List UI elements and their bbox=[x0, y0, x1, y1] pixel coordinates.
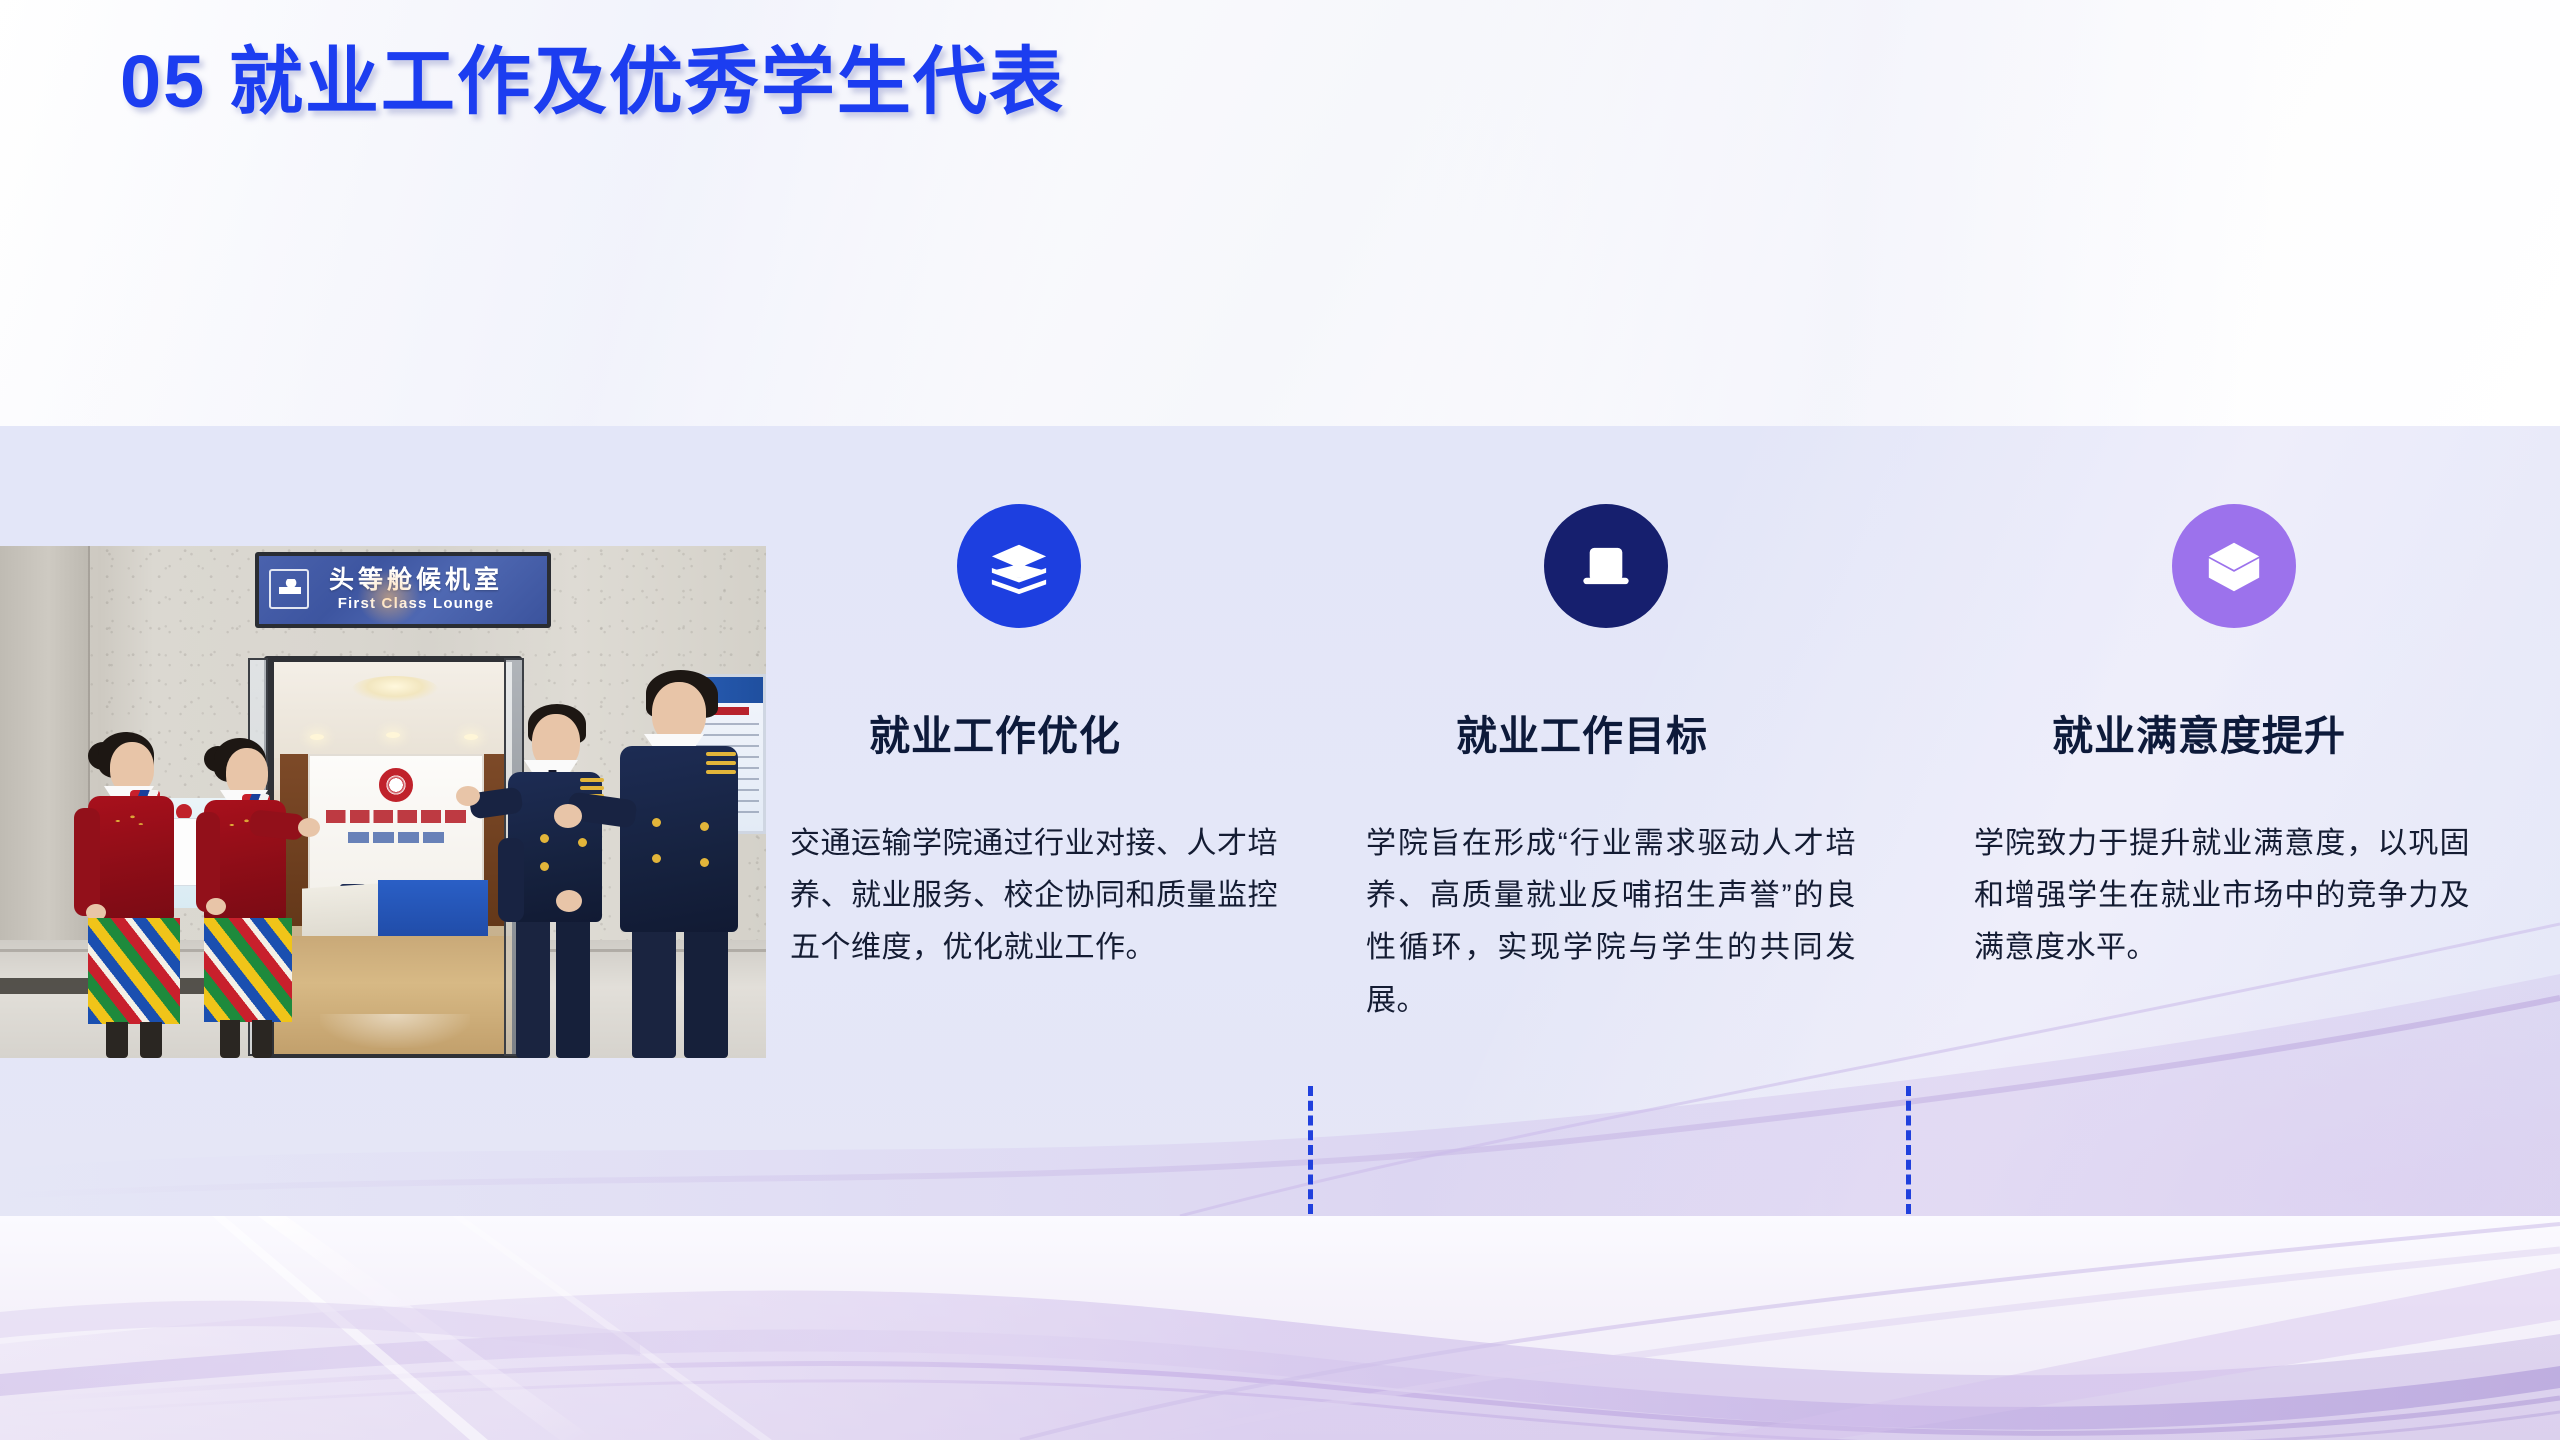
photo-sign-face: 头等舱候机室 First Class Lounge bbox=[259, 556, 547, 624]
column-3-body: 学院致力于提升就业满意度，以巩固和增强学生在就业市场中的竞争力及满意度水平。 bbox=[1974, 818, 2470, 975]
photo-doorway-interior bbox=[274, 662, 512, 1054]
lounge-training-photo: 头等舱候机室 First Class Lounge bbox=[0, 546, 766, 1058]
cube-box-icon bbox=[2203, 535, 2265, 597]
column-1-heading: 就业工作优化 bbox=[869, 702, 1121, 762]
column-divider-2 bbox=[1906, 1086, 1911, 1216]
photo-floor-reflection bbox=[320, 1014, 470, 1048]
photo-sign-glare bbox=[357, 568, 421, 624]
column-2-icon-badge bbox=[1544, 504, 1668, 628]
slide-root: 05 就业工作及优秀学生代表 bbox=[0, 0, 2560, 1440]
column-1-body: 交通运输学院通过行业对接、人才培养、就业服务、校企协同和质量监控五个维度，优化就… bbox=[790, 818, 1278, 975]
laptop-icon bbox=[1577, 537, 1635, 595]
column-2-body: 学院旨在形成“行业需求驱动人才培养、高质量就业反哺招生声誉”的良性循环，实现学院… bbox=[1366, 818, 1856, 1027]
page-title: 05 就业工作及优秀学生代表 bbox=[120, 36, 1065, 129]
photo-chandelier bbox=[352, 676, 438, 702]
seated-passenger-icon bbox=[269, 569, 309, 609]
column-2-heading: 就业工作目标 bbox=[1456, 702, 1708, 762]
column-3-heading: 就业满意度提升 bbox=[2052, 702, 2346, 762]
column-1-icon-badge bbox=[957, 504, 1081, 628]
photo-lounge-name-cn bbox=[348, 832, 444, 843]
photo-downlight bbox=[386, 732, 400, 738]
photo-lounge-sign: 头等舱候机室 First Class Lounge bbox=[255, 552, 551, 628]
column-3-icon-badge bbox=[2172, 504, 2296, 628]
photo-desk-right bbox=[378, 880, 488, 944]
photo-downlight bbox=[310, 734, 324, 740]
photo-airport-logo bbox=[379, 768, 413, 802]
photo-doorway-frame bbox=[264, 656, 522, 1058]
photo-downlight bbox=[464, 734, 478, 740]
photo-airport-name-cn bbox=[326, 810, 466, 823]
column-divider-1 bbox=[1308, 1086, 1313, 1216]
bottom-wave-decoration bbox=[0, 1216, 2560, 1440]
layers-stack-icon bbox=[988, 535, 1050, 597]
